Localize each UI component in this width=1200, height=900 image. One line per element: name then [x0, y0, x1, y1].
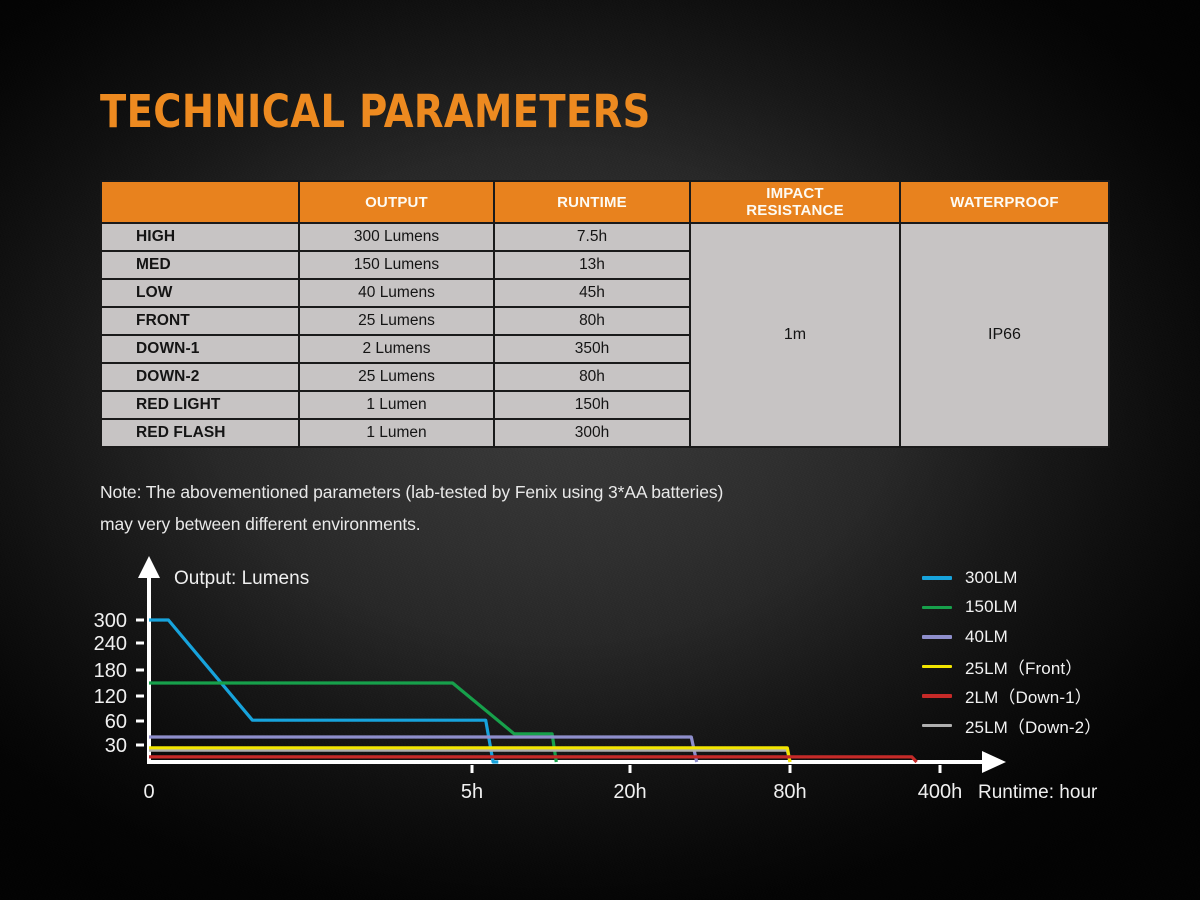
legend-color-swatch — [922, 635, 952, 639]
y-tick-label: 180 — [94, 660, 127, 682]
chart-tick-marks: 300240180120603005h20h80h400h — [94, 610, 963, 803]
legend-item[interactable]: 150LM — [922, 593, 1172, 623]
runtime-value: 350h — [495, 336, 689, 362]
x-axis-title: Runtime: hour — [978, 782, 1098, 803]
legend-label: 300LM — [965, 568, 1017, 588]
output-value: 150 Lumens — [300, 252, 493, 278]
table-row: HIGH 300 Lumens 7.5h 1m IP66 — [102, 224, 1108, 250]
specifications-table: OUTPUT RUNTIME IMPACT RESISTANCE WATERPR… — [100, 180, 1110, 448]
runtime-value: 300h — [495, 420, 689, 446]
runtime-value: 7.5h — [495, 224, 689, 250]
output-value: 25 Lumens — [300, 308, 493, 334]
legend-color-swatch — [922, 665, 952, 669]
legend-color-swatch — [922, 576, 952, 580]
x-tick-label: 5h — [461, 781, 483, 803]
mode-label: DOWN-1 — [102, 336, 298, 362]
x-tick-label: 80h — [773, 781, 806, 803]
output-value: 40 Lumens — [300, 280, 493, 306]
y-tick-label: 300 — [94, 610, 127, 632]
y-tick-label: 120 — [94, 686, 127, 708]
note-line-2: may very between different environments. — [100, 508, 920, 540]
impact-resistance-line-1: IMPACT — [697, 185, 893, 202]
note-line-1: Note: The abovementioned parameters (lab… — [100, 476, 920, 508]
legend-item[interactable]: 25LM（Down-2） — [922, 711, 1172, 741]
table-header-runtime: RUNTIME — [495, 182, 689, 222]
mode-label: LOW — [102, 280, 298, 306]
chart-series-lines — [149, 620, 917, 762]
table-header-impact-resistance: IMPACT RESISTANCE — [691, 182, 899, 222]
y-axis-title: Output: Lumens — [174, 568, 309, 589]
y-tick-label: 60 — [105, 711, 127, 733]
mode-label: FRONT — [102, 308, 298, 334]
runtime-value: 80h — [495, 308, 689, 334]
note-block: Note: The abovementioned parameters (lab… — [100, 476, 920, 540]
chart-legend: 300LM150LM40LM25LM（Front）2LM（Down-1）25LM… — [922, 563, 1172, 740]
y-tick-label: 240 — [94, 633, 127, 655]
mode-label: RED FLASH — [102, 420, 298, 446]
table-header-output: OUTPUT — [300, 182, 493, 222]
legend-label: 25LM（Down-2） — [965, 713, 1101, 738]
output-value: 2 Lumens — [300, 336, 493, 362]
legend-item[interactable]: 40LM — [922, 622, 1172, 652]
impact-resistance-line-2: RESISTANCE — [697, 202, 893, 219]
runtime-value: 45h — [495, 280, 689, 306]
legend-item[interactable]: 25LM（Front） — [922, 652, 1172, 682]
series-line — [149, 620, 498, 762]
mode-label: RED LIGHT — [102, 392, 298, 418]
legend-label: 150LM — [965, 597, 1017, 617]
output-value: 25 Lumens — [300, 364, 493, 390]
y-axis-arrow-icon — [138, 556, 160, 578]
legend-color-swatch — [922, 724, 952, 728]
legend-label: 40LM — [965, 627, 1008, 647]
mode-label: MED — [102, 252, 298, 278]
table-header-waterproof: WATERPROOF — [901, 182, 1108, 222]
legend-item[interactable]: 300LM — [922, 563, 1172, 593]
output-value: 1 Lumen — [300, 392, 493, 418]
x-tick-label: 400h — [918, 781, 963, 803]
mode-label: DOWN-2 — [102, 364, 298, 390]
table-header-row: OUTPUT RUNTIME IMPACT RESISTANCE WATERPR… — [102, 182, 1108, 222]
x-tick-label: 0 — [143, 781, 154, 803]
mode-label: HIGH — [102, 224, 298, 250]
legend-label: 2LM（Down-1） — [965, 683, 1092, 708]
page-title: TECHNICAL PARAMETERS — [100, 89, 651, 134]
output-value: 1 Lumen — [300, 420, 493, 446]
impact-resistance-value: 1m — [691, 224, 899, 446]
legend-label: 25LM（Front） — [965, 654, 1082, 679]
x-tick-label: 20h — [613, 781, 646, 803]
runtime-value: 150h — [495, 392, 689, 418]
y-tick-label: 30 — [105, 735, 127, 757]
legend-color-swatch — [922, 694, 952, 698]
waterproof-value: IP66 — [901, 224, 1108, 446]
x-axis-arrow-icon — [982, 751, 1006, 773]
output-value: 300 Lumens — [300, 224, 493, 250]
legend-item[interactable]: 2LM（Down-1） — [922, 681, 1172, 711]
runtime-value: 80h — [495, 364, 689, 390]
table-header-blank — [102, 182, 298, 222]
runtime-value: 13h — [495, 252, 689, 278]
legend-color-swatch — [922, 606, 952, 610]
